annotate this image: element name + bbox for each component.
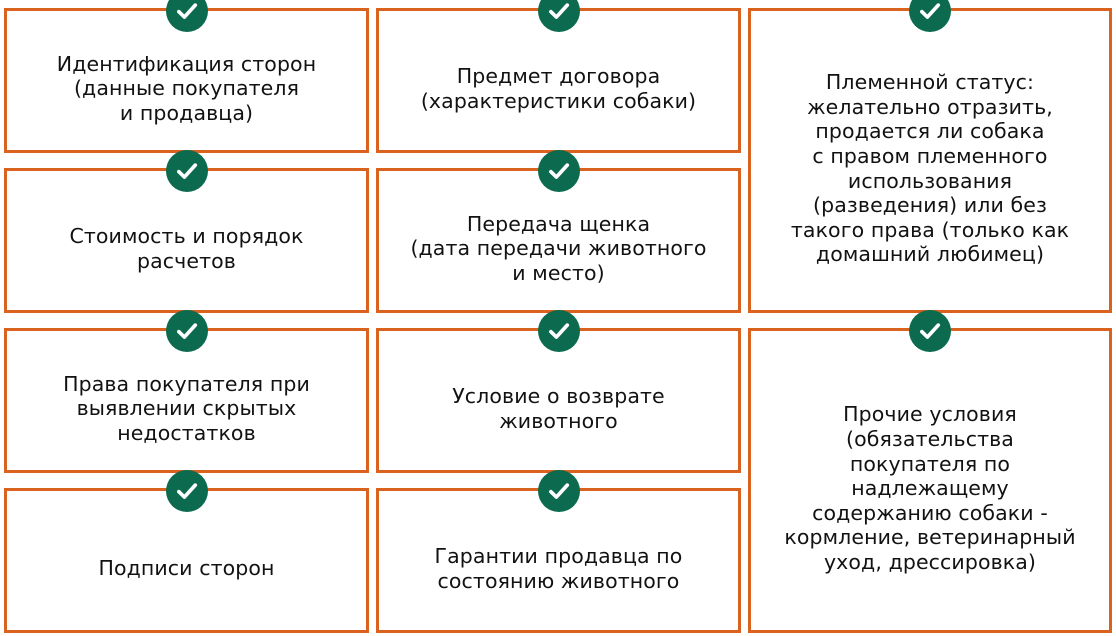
checklist-card-text: Подписи сторон xyxy=(98,556,274,580)
checklist-card-buyer-rights-hidden-defects: Права покупателя при выявлении скрытых н… xyxy=(4,328,369,473)
checklist-card-text: Гарантии продавца по состоянию животного xyxy=(435,544,683,592)
check-circle-icon xyxy=(538,470,580,512)
checklist-card-text: Племенной статус: желательно отразить, п… xyxy=(791,70,1069,267)
check-circle-icon xyxy=(166,310,208,352)
checklist-card-cost-and-payment-order: Стоимость и порядок расчетов xyxy=(4,168,369,313)
checklist-card-text: Предмет договора (характеристики собаки) xyxy=(421,64,696,112)
check-circle-icon xyxy=(166,150,208,192)
checklist-card-animal-return-condition: Условие о возврате животного xyxy=(376,328,741,473)
checklist-card-text: Стоимость и порядок расчетов xyxy=(69,224,303,272)
check-circle-icon xyxy=(538,0,580,32)
check-circle-icon xyxy=(538,150,580,192)
check-circle-icon xyxy=(166,0,208,32)
checklist-card-grid: Идентификация сторон (данные покупателя … xyxy=(4,8,1112,628)
check-circle-icon xyxy=(909,0,951,32)
contract-checklist-infographic: Идентификация сторон (данные покупателя … xyxy=(0,0,1116,636)
check-circle-icon xyxy=(909,310,951,352)
checklist-card-seller-guarantees: Гарантии продавца по состоянию животного xyxy=(376,488,741,633)
checklist-card-identification-of-parties: Идентификация сторон (данные покупателя … xyxy=(4,8,369,153)
checklist-card-text: Идентификация сторон (данные покупателя … xyxy=(57,52,316,125)
checklist-card-text: Права покупателя при выявлении скрытых н… xyxy=(63,372,310,445)
checklist-card-signatures-of-parties: Подписи сторон xyxy=(4,488,369,633)
checklist-card-breeding-status: Племенной статус: желательно отразить, п… xyxy=(748,8,1112,313)
checklist-card-text: Условие о возврате животного xyxy=(452,384,665,432)
checklist-card-puppy-handover: Передача щенка (дата передачи животного … xyxy=(376,168,741,313)
checklist-card-subject-of-contract: Предмет договора (характеристики собаки) xyxy=(376,8,741,153)
check-circle-icon xyxy=(538,310,580,352)
check-circle-icon xyxy=(166,470,208,512)
checklist-card-text: Передача щенка (дата передачи животного … xyxy=(410,212,706,285)
checklist-card-other-conditions: Прочие условия (обязательства покупателя… xyxy=(748,328,1112,633)
checklist-card-text: Прочие условия (обязательства покупателя… xyxy=(784,402,1075,574)
